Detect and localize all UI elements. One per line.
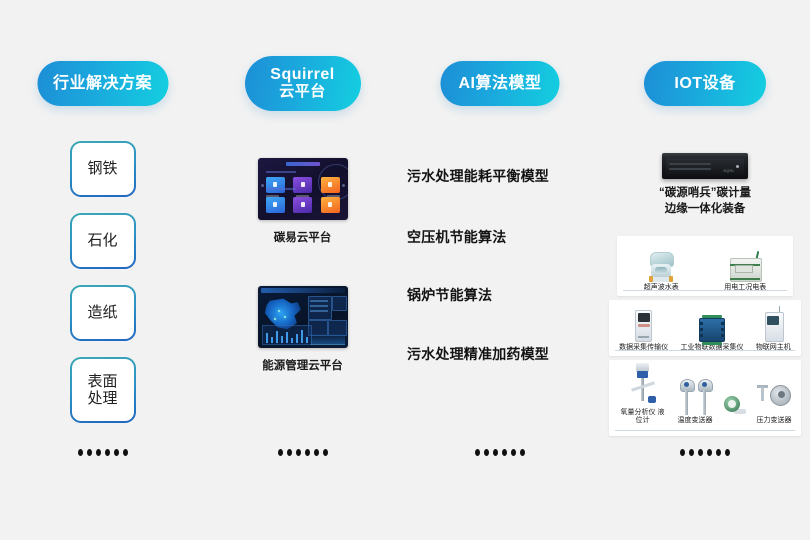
map-hotspot: [284, 316, 286, 318]
rack-server-icon: SQRL: [662, 153, 748, 179]
iot-device-temperature-transmitter[interactable]: 温度变送器: [678, 360, 713, 426]
oxygen-analyzer-icon: [630, 363, 656, 407]
water-meter-icon: [649, 252, 673, 282]
pill-label-line1: AI算法模型: [458, 75, 541, 93]
diagram-canvas: 行业解决方案 钢铁 石化 造纸 表面 处理 Squirrel 云平台: [0, 0, 810, 540]
iot-device-group-sensors: 氧量分析仪 液位计 温度变送器: [609, 360, 801, 436]
industry-box-petrochemical[interactable]: 石化: [70, 213, 136, 269]
dot: [716, 449, 721, 456]
ai-model-item-boiler-saving[interactable]: 锅炉节能算法: [407, 285, 492, 305]
iot-device-ultrasonic-water-meter[interactable]: 超声波水表: [644, 236, 679, 293]
industry-box-surface-treatment[interactable]: 表面 处理: [70, 357, 136, 423]
dot: [493, 449, 498, 456]
column-header-ai-algorithm-models[interactable]: AI算法模型: [441, 61, 560, 106]
column-industry-solutions: 行业解决方案 钢铁 石化 造纸 表面 处理: [0, 0, 205, 540]
iot-hero-caption-line2: 边缘一体化装备: [665, 203, 746, 215]
platform-caption: 碳易云平台: [258, 229, 348, 245]
column-squirrel-cloud-platform: Squirrel 云平台: [205, 0, 400, 540]
dashboard-title-bar: [286, 162, 320, 166]
dot: [314, 449, 319, 456]
ai-model-item-air-compressor-saving[interactable]: 空压机节能算法: [407, 227, 506, 247]
industry-box-steel[interactable]: 钢铁: [70, 141, 136, 197]
bottom-bar-chart: [262, 325, 312, 345]
iot-hero-device[interactable]: SQRL “碳源哨兵”碳计量 边缘一体化装备: [659, 153, 751, 217]
iot-device-iot-host[interactable]: 物联网主机: [756, 300, 791, 353]
industrial-iot-collector-icon: [699, 318, 725, 342]
iot-device-label: 用电工况电表: [724, 284, 766, 293]
industry-box-label: 石化: [87, 232, 117, 249]
industry-box-label-line2: 处理: [87, 390, 117, 407]
dot: [278, 449, 283, 456]
column-ai-algorithm-models: AI算法模型 污水处理能耗平衡模型 空压机节能算法 锅炉节能算法 污水处理精准加…: [400, 0, 600, 540]
map-dashboard-image: [258, 286, 348, 348]
dashboard-tile: [266, 177, 285, 193]
dot: [689, 449, 694, 456]
iot-device-label: 温度变送器: [678, 417, 713, 426]
industry-box-label: 表面 处理: [87, 373, 117, 408]
dashboard-tile: [266, 197, 285, 213]
panel-line: [310, 305, 328, 307]
map-hotspot: [278, 310, 280, 312]
tile-row-1: [266, 177, 340, 193]
iot-device-oxygen-analyzer[interactable]: 氧量分析仪 液位计: [619, 360, 667, 426]
industry-box-papermaking[interactable]: 造纸: [70, 285, 136, 341]
dashboard-tile: [293, 177, 312, 193]
dot: [707, 449, 712, 456]
dashboard-tile: [321, 197, 340, 213]
iot-device-label: 压力变送器: [757, 417, 792, 426]
dot: [305, 449, 310, 456]
iot-device-group-meters: 超声波水表 用电工况电表: [617, 236, 793, 296]
pill-label-line1: IOT设备: [674, 75, 735, 93]
dot: [78, 449, 83, 456]
ai-model-item-wastewater-energy-balance[interactable]: 污水处理能耗平衡模型: [407, 166, 549, 186]
more-dots-iot-devices: [680, 449, 730, 456]
iot-device-flow-sensor[interactable]: [724, 360, 746, 426]
pill-label-line1: 行业解决方案: [53, 75, 152, 93]
dot: [520, 449, 525, 456]
ai-model-item-wastewater-precise-dosing[interactable]: 污水处理精准加药模型: [407, 344, 549, 364]
power-meter-icon: [730, 256, 760, 282]
dot: [484, 449, 489, 456]
dot: [475, 449, 480, 456]
platform-screenshot-energy-management[interactable]: 能源管理云平台: [258, 286, 348, 373]
panel-line: [310, 310, 328, 312]
nav-dot: [342, 184, 345, 187]
temperature-transmitter-icon: [680, 379, 711, 415]
iot-hero-caption: “碳源哨兵”碳计量 边缘一体化装备: [659, 186, 751, 217]
pill-label-line2: 云平台: [279, 84, 326, 101]
map-hotspot: [274, 318, 276, 320]
dashboard-title-bar: [261, 288, 345, 293]
more-dots-industry-solutions: [78, 449, 128, 456]
platform-screenshot-carbon-easy[interactable]: 碳易云平台: [258, 158, 348, 245]
industry-box-label-line1: 表面: [87, 373, 117, 390]
dot: [323, 449, 328, 456]
dot: [287, 449, 292, 456]
iot-device-label-line1: 氧量分析仪: [621, 409, 656, 416]
divider: [623, 290, 787, 291]
dot: [96, 449, 101, 456]
dot: [114, 449, 119, 456]
dashboard-section-label: [266, 171, 296, 173]
iot-device-label: 工业物联数据采集仪: [680, 344, 743, 353]
dot: [698, 449, 703, 456]
dot: [725, 449, 730, 456]
divider: [615, 350, 795, 351]
iot-device-power-meter[interactable]: 用电工况电表: [724, 236, 766, 293]
more-dots-cloud-platform: [278, 449, 328, 456]
dot: [502, 449, 507, 456]
iot-device-group-collectors: 数据采集传输仪 工业物联数据采集仪: [609, 300, 801, 356]
iot-device-label: 数据采集传输仪: [619, 344, 668, 353]
data-acquisition-terminal-icon: [635, 310, 652, 342]
column-iot-devices: IOT设备 SQRL “碳源哨兵”碳计量 边缘一体化装备: [600, 0, 810, 540]
dashboard-section-label: [266, 188, 296, 190]
nav-dot: [261, 184, 264, 187]
iot-device-label: 超声波水表: [644, 284, 679, 293]
iot-device-label: 氧量分析仪 液位计: [619, 409, 667, 427]
more-dots-ai-models: [475, 449, 525, 456]
iot-device-pressure-transmitter[interactable]: 压力变送器: [757, 360, 792, 426]
iot-device-data-acquisition-terminal[interactable]: 数据采集传输仪: [619, 300, 668, 353]
mini-chart-panel: [332, 296, 347, 311]
iot-device-industrial-iot-collector[interactable]: 工业物联数据采集仪: [680, 300, 743, 353]
dashboard-tile: [321, 177, 340, 193]
iot-hero-caption-line1: “碳源哨兵”碳计量: [659, 187, 751, 199]
dot: [105, 449, 110, 456]
platform-caption: 能源管理云平台: [258, 357, 348, 373]
pill-label-line1: Squirrel: [270, 66, 334, 84]
column-header-squirrel-cloud-platform[interactable]: Squirrel 云平台: [245, 56, 361, 111]
industry-box-label: 造纸: [87, 304, 117, 321]
dot: [511, 449, 516, 456]
dot: [680, 449, 685, 456]
pressure-transmitter-icon: [757, 383, 791, 415]
panel-line: [310, 300, 328, 302]
trend-wave-chart: [311, 333, 345, 345]
flow-sensor-icon: [724, 396, 746, 424]
divider: [615, 430, 795, 431]
tiles-dashboard-image: [258, 158, 348, 220]
dot: [87, 449, 92, 456]
industry-box-label: 钢铁: [87, 160, 117, 177]
dashboard-tile: [293, 197, 312, 213]
column-header-industry-solutions[interactable]: 行业解决方案: [37, 61, 168, 106]
column-header-iot-devices[interactable]: IOT设备: [644, 61, 766, 106]
dot: [123, 449, 128, 456]
dot: [296, 449, 301, 456]
iot-host-icon: [765, 310, 782, 342]
iot-device-label: 物联网主机: [756, 344, 791, 353]
tile-row-2: [266, 197, 340, 213]
